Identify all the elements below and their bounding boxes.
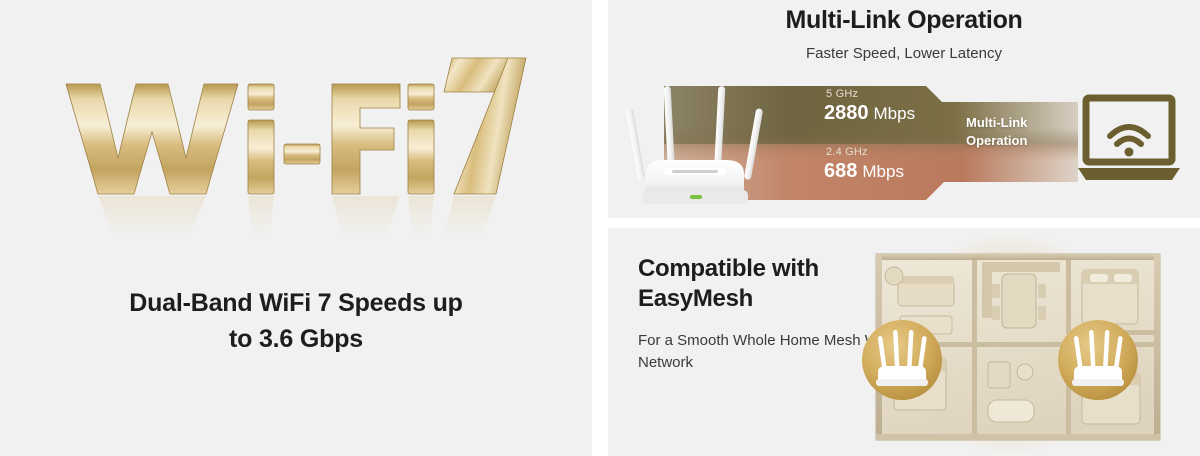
furniture-bedroom-top-right — [1082, 270, 1138, 324]
wifi7-hero-panel: Dual-Band WiFi 7 Speeds up to 3.6 Gbps — [0, 0, 592, 456]
band-label-5ghz: 5 GHz — [826, 88, 858, 100]
product-feature-banner: Dual-Band WiFi 7 Speeds up to 3.6 Gbps M… — [0, 0, 1200, 456]
band-speed-unit-24ghz: Mbps — [862, 162, 904, 181]
logo-reflection — [98, 196, 496, 240]
logo-letter-i — [248, 84, 274, 194]
laptop-wifi-icon — [1078, 98, 1180, 180]
logo-letter-i2 — [408, 84, 434, 194]
multi-link-graphic: 5 GHz 2880 Mbps 2.4 GHz 688 Mbps Multi-L… — [608, 72, 1200, 218]
multi-link-badge-line1: Multi-Link — [966, 114, 1027, 132]
mesh-router-node-icon — [1058, 320, 1138, 400]
band-label-24ghz: 2.4 GHz — [826, 146, 868, 158]
right-column: Multi-Link Operation Faster Speed, Lower… — [608, 0, 1200, 456]
logo-hyphen — [284, 144, 320, 164]
band-speed-value-5ghz: 2880 — [824, 102, 869, 124]
router-led — [690, 195, 702, 199]
easymesh-floorplan-svg — [820, 232, 1200, 456]
wifi7-logo — [56, 46, 536, 246]
logo-letter-w — [66, 84, 238, 194]
multi-link-title: Multi-Link Operation — [608, 6, 1200, 35]
wifi-arcs-icon — [1110, 127, 1148, 144]
hero-caption-line1: Dual-Band WiFi 7 Speeds up — [86, 286, 506, 322]
band-speed-unit-5ghz: Mbps — [874, 104, 916, 123]
band-speed-value-24ghz: 688 — [824, 160, 857, 182]
hero-caption-line2: to 3.6 Gbps — [86, 322, 506, 358]
multi-link-badge: Multi-Link Operation — [966, 114, 1027, 149]
easymesh-title-line1: Compatible with — [638, 255, 819, 282]
easymesh-panel: Compatible with EasyMesh For a Smooth Wh… — [608, 228, 1200, 456]
wifi7-logo-svg — [56, 46, 536, 246]
multi-link-badge-line2: Operation — [966, 132, 1027, 150]
mesh-router-node-icon — [862, 320, 942, 400]
logo-numeral-7 — [444, 58, 526, 194]
band-speed-24ghz: 688 Mbps — [824, 160, 904, 183]
band-speed-5ghz: 2880 Mbps — [824, 102, 915, 125]
easymesh-floorplan-graphic — [820, 232, 1200, 456]
logo-letter-f — [332, 84, 400, 194]
multi-link-operation-panel: Multi-Link Operation Faster Speed, Lower… — [608, 0, 1200, 218]
easymesh-title-line2: EasyMesh — [638, 285, 753, 312]
multi-link-graphic-svg — [608, 72, 1200, 218]
multi-link-subtitle: Faster Speed, Lower Latency — [608, 45, 1200, 62]
hero-caption: Dual-Band WiFi 7 Speeds up to 3.6 Gbps — [86, 286, 506, 357]
